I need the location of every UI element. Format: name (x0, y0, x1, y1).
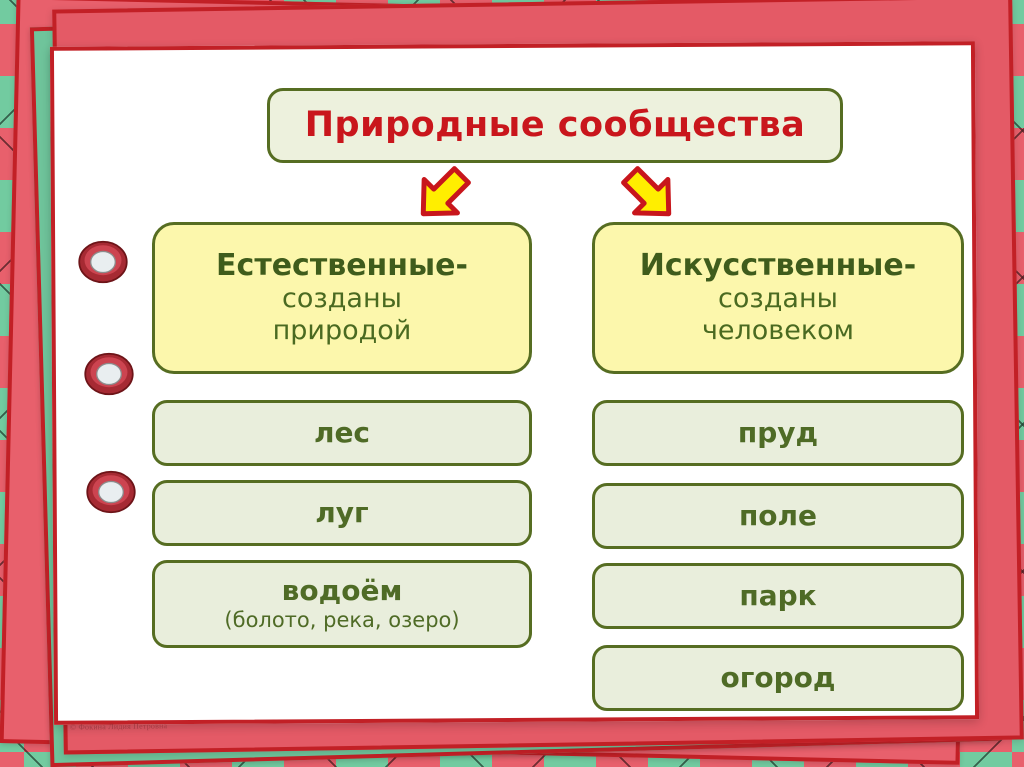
list-item: огород (592, 645, 964, 711)
item-label: пруд (738, 418, 818, 449)
category-heading-line3: человеком (702, 315, 854, 347)
category-heading-line3: природой (273, 315, 412, 347)
item-label: огород (721, 663, 836, 694)
category-heading-line2: созданы (718, 283, 838, 315)
binder-ring-icon (82, 352, 136, 396)
category-box-natural: Естественные- созданы природой (152, 222, 532, 374)
item-label: парк (739, 581, 816, 612)
list-item: парк (592, 563, 964, 629)
item-label: лес (314, 418, 370, 449)
item-label: луг (315, 498, 368, 529)
arrow-down-left-icon (412, 163, 474, 225)
category-heading-line1: Естественные- (216, 249, 468, 283)
item-note: (болото, река, озеро) (224, 609, 459, 632)
list-item: лес (152, 400, 532, 466)
binder-ring-icon (84, 470, 138, 514)
category-heading-line1: Искусственные- (640, 249, 916, 283)
list-item: поле (592, 483, 964, 549)
item-label: водоём (282, 576, 403, 607)
category-box-artificial: Искусственные- созданы человеком (592, 222, 964, 374)
page-title: Природные сообщества (305, 108, 806, 143)
arrow-down-right-icon (618, 163, 680, 225)
list-item: луг (152, 480, 532, 546)
category-heading-line2: созданы (282, 283, 402, 315)
slide-title-box: Природные сообщества (267, 88, 843, 163)
item-label: поле (739, 501, 817, 532)
slide-canvas: © Фокина Лидия Петровна Природные сообще… (0, 0, 1024, 767)
list-item: водоём (болото, река, озеро) (152, 560, 532, 648)
binder-ring-icon (76, 240, 130, 284)
list-item: пруд (592, 400, 964, 466)
slide-content: Природные сообщества (0, 0, 1024, 767)
